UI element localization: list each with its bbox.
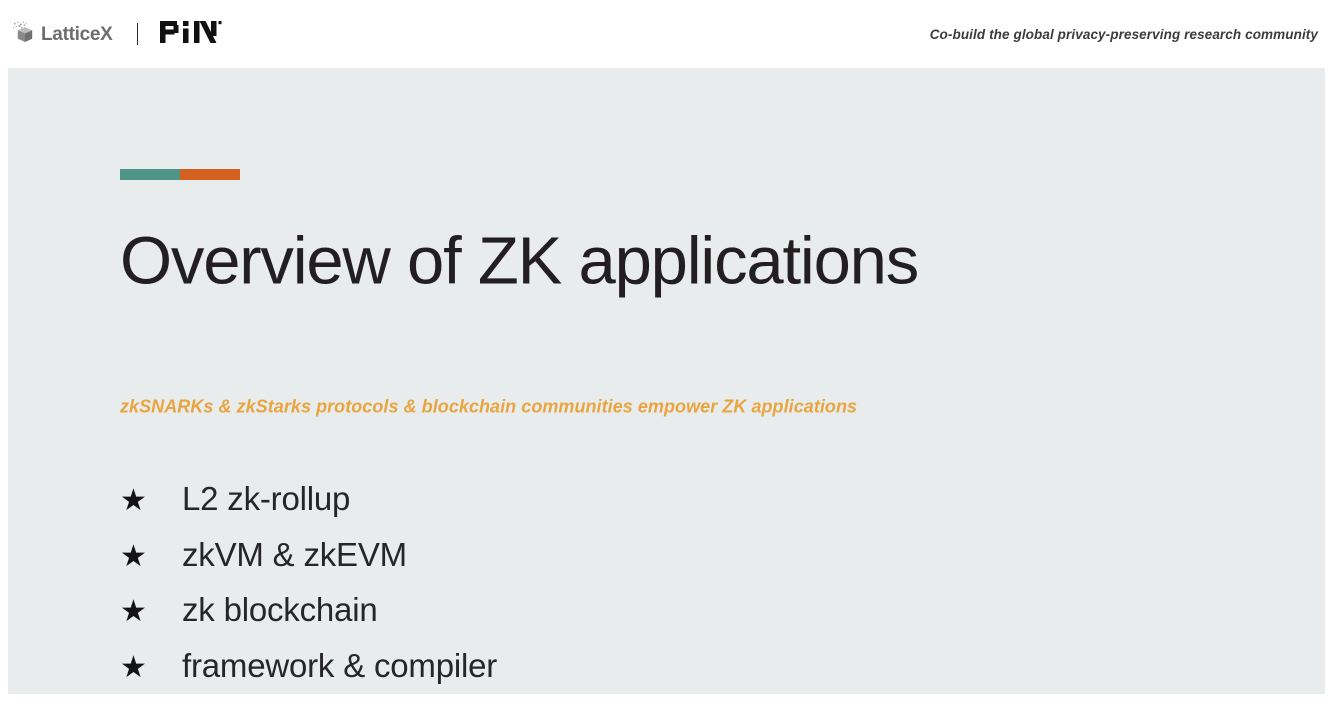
- slide-canvas: Overview of ZK applications zkSNARKs & z…: [8, 68, 1325, 694]
- latticex-wordmark: LatticeX: [41, 25, 113, 44]
- lattice-cube-icon: [12, 21, 38, 47]
- accent-bar-segment-orange: [180, 169, 240, 180]
- star-icon: ★: [120, 597, 182, 627]
- brand-group: LatticeX: [12, 21, 222, 48]
- pin-logo[interactable]: [160, 21, 222, 48]
- brand-divider: [137, 23, 138, 45]
- list-item: ★ zkVM & zkEVM: [120, 538, 578, 594]
- star-icon: ★: [120, 486, 182, 516]
- latticex-logo[interactable]: LatticeX: [12, 21, 113, 47]
- slide-content: Overview of ZK applications zkSNARKs & z…: [114, 68, 1325, 694]
- list-item-label: zkVM & zkEVM: [182, 538, 407, 571]
- list-item: ★ zk blockchain: [120, 593, 578, 649]
- star-icon: ★: [120, 542, 182, 572]
- header-tagline: Co-build the global privacy-preserving r…: [930, 27, 1318, 42]
- list-item-label: framework & compiler: [182, 649, 497, 682]
- star-icon: ★: [120, 653, 182, 683]
- page-header: LatticeX: [0, 0, 1332, 68]
- bullet-list: ★ L2 zk-rollup ★ zkVM & zkEVM ★ zk block…: [120, 482, 578, 694]
- accent-bar-segment-teal: [120, 169, 180, 180]
- page-title: Overview of ZK applications: [120, 228, 918, 295]
- list-item-label: zk blockchain: [182, 593, 378, 626]
- slide-subtitle: zkSNARKs & zkStarks protocols & blockcha…: [120, 397, 857, 418]
- list-item-label: L2 zk-rollup: [182, 482, 350, 515]
- accent-bar: [120, 169, 240, 180]
- list-item: ★ L2 zk-rollup: [120, 482, 578, 538]
- list-item: ★ framework & compiler: [120, 649, 578, 695]
